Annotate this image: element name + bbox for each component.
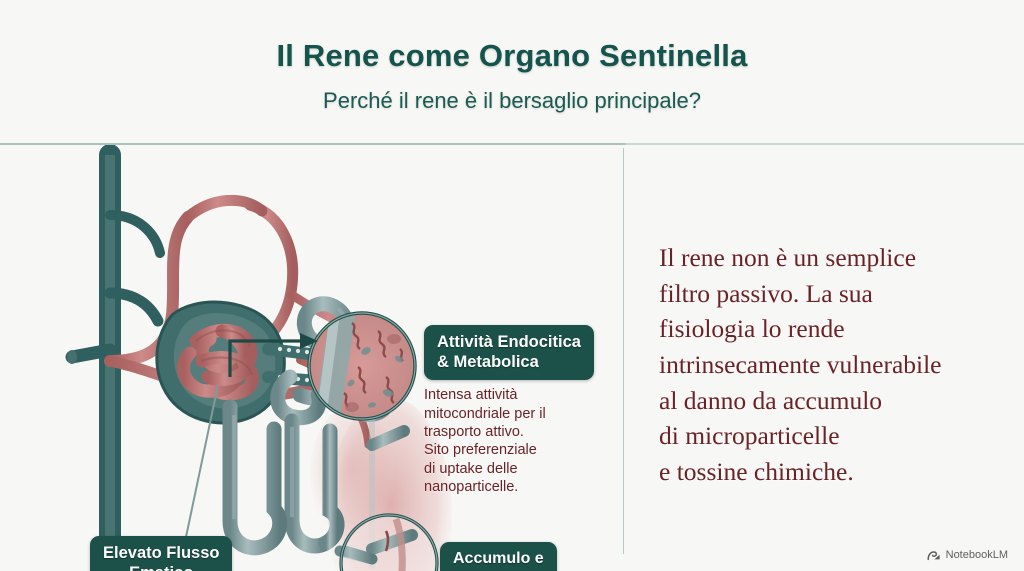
- summary-line: fisiologia lo rende: [659, 311, 1014, 347]
- summary-paragraph: Il rene non è un semplice filtro passivo…: [659, 240, 1014, 490]
- callout-endocytic[interactable]: Attività Endocitica & Metabolica Intensa…: [424, 325, 614, 497]
- callout-bloodflow-title-line1: Elevato Flusso: [103, 543, 219, 563]
- summary-line: al danno da accumulo: [659, 383, 1014, 419]
- page-title: Il Rene come Organo Sentinella: [276, 38, 747, 74]
- callout-endocytic-body-line: di uptake delle: [424, 460, 614, 478]
- callout-endocytic-body-line: nanoparticelle.: [424, 478, 614, 496]
- callout-endocytic-badge: Attività Endocitica & Metabolica: [424, 325, 594, 380]
- page-subtitle: Perché il rene è il bersaglio principale…: [323, 88, 701, 114]
- slide-root: Il Rene come Organo Sentinella Perché il…: [0, 0, 1024, 571]
- callout-endocytic-body-line: Sito preferenziale: [424, 441, 614, 459]
- callout-accumulation-title-line1: Accumulo e: [453, 549, 544, 569]
- zoom-circle-endocytic: [309, 313, 415, 419]
- summary-line: intrinsecamente vulnerabile: [659, 347, 1014, 383]
- callout-accumulation[interactable]: Accumulo e Filtrazione Tentativo di clea…: [440, 542, 620, 571]
- summary-line: di microparticelle: [659, 418, 1014, 454]
- callout-endocytic-body-line: Intensa attività: [424, 386, 614, 404]
- callout-endocytic-title-line1: Attività Endocitica: [437, 332, 581, 352]
- callout-endocytic-body-line: trasporto attivo.: [424, 423, 614, 441]
- notebooklm-logo-icon: [927, 550, 941, 561]
- summary-line: Il rene non è un semplice: [659, 240, 1014, 276]
- callout-bloodflow-badge: Elevato Flusso Ematico: [90, 536, 232, 571]
- summary-panel: Il rene non è un semplice filtro passivo…: [624, 145, 1024, 571]
- callout-endocytic-body: Intensa attività mitocondriale per il tr…: [424, 386, 614, 496]
- summary-line: e tossine chimiche.: [659, 454, 1014, 490]
- notebooklm-label: NotebookLM: [946, 549, 1008, 561]
- notebooklm-watermark: NotebookLM: [927, 549, 1008, 561]
- slide-header: Il Rene come Organo Sentinella Perché il…: [0, 0, 1024, 144]
- callout-accumulation-badge: Accumulo e Filtrazione: [440, 542, 557, 571]
- summary-line: filtro passivo. La sua: [659, 276, 1014, 312]
- callout-bloodflow[interactable]: Elevato Flusso Ematico Riceve il 20-25% …: [90, 536, 305, 571]
- callout-endocytic-body-line: mitocondriale per il: [424, 405, 614, 423]
- callout-bloodflow-title-line2: Ematico: [103, 563, 219, 571]
- callout-endocytic-title-line2: & Metabolica: [437, 352, 581, 372]
- diagram-panel: Attività Endocitica & Metabolica Intensa…: [0, 145, 623, 571]
